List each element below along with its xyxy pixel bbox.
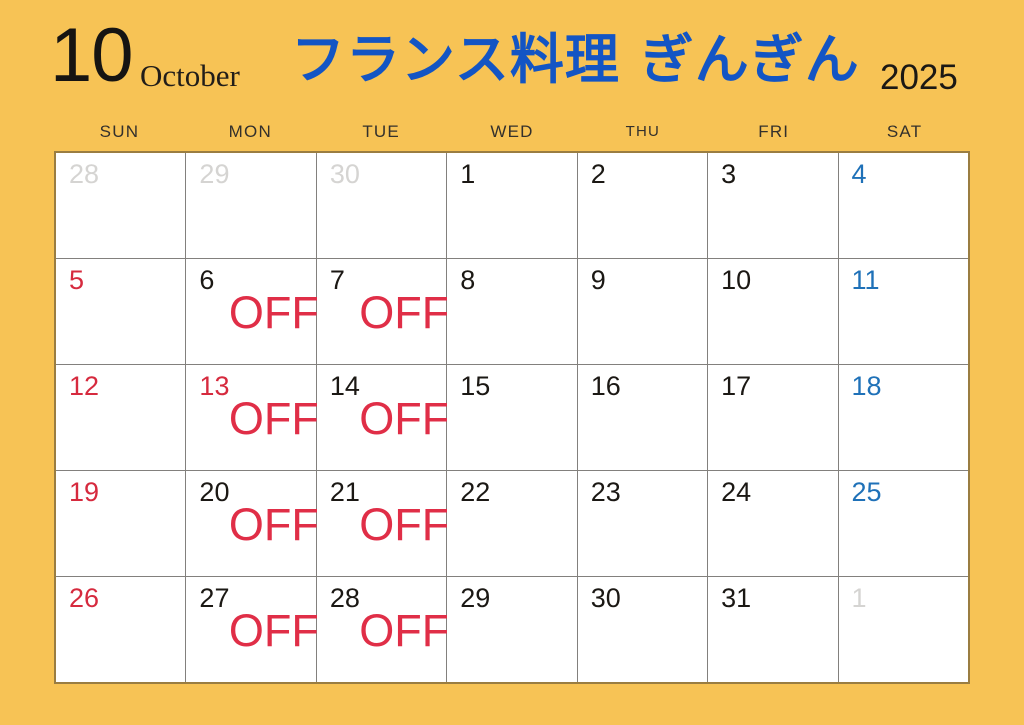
weekday-label-sat: SAT [839, 122, 970, 148]
calendar-day-cell[interactable]: 8 [447, 259, 577, 364]
off-marker: OFF [229, 502, 319, 547]
day-number: 7 [330, 265, 345, 296]
calendar-day-cell[interactable]: 29 [447, 577, 577, 682]
day-number: 30 [330, 159, 360, 190]
calendar-day-cell[interactable]: 25 [839, 471, 968, 576]
day-number: 31 [721, 583, 751, 614]
weekday-label-thu: THU [577, 122, 708, 148]
calendar-week-row: 1213OFF14OFF15161718 [56, 365, 968, 471]
calendar-day-cell[interactable]: 1 [447, 153, 577, 258]
off-marker: OFF [359, 608, 449, 653]
calendar-header: 10 October フランス料理 ぎんぎん 2025 [0, 0, 1024, 118]
day-number: 2 [591, 159, 606, 190]
month-number: 10 [50, 18, 133, 94]
calendar-day-cell[interactable]: 11 [839, 259, 968, 364]
day-number: 21 [330, 477, 360, 508]
calendar-day-cell[interactable]: 3 [708, 153, 838, 258]
calendar-day-cell[interactable]: 26 [56, 577, 186, 682]
day-number: 18 [852, 371, 882, 402]
day-number: 29 [199, 159, 229, 190]
day-number: 29 [460, 583, 490, 614]
month-name: October [140, 60, 240, 91]
calendar-day-cell[interactable]: 18 [839, 365, 968, 470]
day-number: 9 [591, 265, 606, 296]
weekday-label-mon: MON [185, 122, 316, 148]
calendar-day-cell[interactable]: 9 [578, 259, 708, 364]
weekday-label-tue: TUE [316, 122, 447, 148]
day-number: 22 [460, 477, 490, 508]
calendar-day-cell[interactable]: 30 [578, 577, 708, 682]
day-number: 8 [460, 265, 475, 296]
weekday-label-fri: FRI [708, 122, 839, 148]
day-number: 4 [852, 159, 867, 190]
calendar-week-row: 1920OFF21OFF22232425 [56, 471, 968, 577]
weekday-header-row: SUNMONTUEWEDTHUFRISAT [54, 122, 970, 148]
weekday-label-wed: WED [447, 122, 578, 148]
day-number: 19 [69, 477, 99, 508]
day-number: 1 [852, 583, 867, 614]
calendar-day-cell[interactable]: 1 [839, 577, 968, 682]
day-number: 27 [199, 583, 229, 614]
calendar-day-cell[interactable]: 31 [708, 577, 838, 682]
day-number: 14 [330, 371, 360, 402]
calendar-day-cell[interactable]: 12 [56, 365, 186, 470]
weekday-label-sun: SUN [54, 122, 185, 148]
day-number: 13 [199, 371, 229, 402]
day-number: 23 [591, 477, 621, 508]
day-number: 17 [721, 371, 751, 402]
calendar-day-cell[interactable]: 15 [447, 365, 577, 470]
off-marker: OFF [229, 396, 319, 441]
calendar-day-cell[interactable]: 24 [708, 471, 838, 576]
day-number: 12 [69, 371, 99, 402]
calendar-day-cell[interactable]: 29 [186, 153, 316, 258]
calendar-day-cell[interactable]: 21OFF [317, 471, 447, 576]
calendar-day-cell[interactable]: 23 [578, 471, 708, 576]
calendar-day-cell[interactable]: 30 [317, 153, 447, 258]
calendar-day-cell[interactable]: 2 [578, 153, 708, 258]
day-number: 11 [852, 265, 880, 296]
off-marker: OFF [359, 502, 449, 547]
day-number: 28 [330, 583, 360, 614]
day-number: 1 [460, 159, 475, 190]
day-number: 3 [721, 159, 736, 190]
day-number: 30 [591, 583, 621, 614]
day-number: 5 [69, 265, 84, 296]
day-number: 25 [852, 477, 882, 508]
calendar-day-cell[interactable]: 5 [56, 259, 186, 364]
calendar-day-cell[interactable]: 20OFF [186, 471, 316, 576]
off-marker: OFF [229, 608, 319, 653]
calendar-day-cell[interactable]: 13OFF [186, 365, 316, 470]
day-number: 16 [591, 371, 621, 402]
calendar-day-cell[interactable]: 14OFF [317, 365, 447, 470]
day-number: 10 [721, 265, 751, 296]
day-number: 26 [69, 583, 99, 614]
calendar-day-cell[interactable]: 28 [56, 153, 186, 258]
calendar-day-cell[interactable]: 22 [447, 471, 577, 576]
calendar-day-cell[interactable]: 10 [708, 259, 838, 364]
day-number: 6 [199, 265, 214, 296]
off-marker: OFF [359, 396, 449, 441]
calendar-day-cell[interactable]: 28OFF [317, 577, 447, 682]
off-marker: OFF [359, 290, 449, 335]
calendar-day-cell[interactable]: 19 [56, 471, 186, 576]
calendar-title: フランス料理 ぎんぎん [291, 33, 860, 87]
calendar-week-row: 56OFF7OFF891011 [56, 259, 968, 365]
day-number: 24 [721, 477, 751, 508]
calendar-day-cell[interactable]: 7OFF [317, 259, 447, 364]
calendar-day-cell[interactable]: 17 [708, 365, 838, 470]
calendar-week-row: 2627OFF28OFF2930311 [56, 577, 968, 682]
day-number: 20 [199, 477, 229, 508]
calendar-day-cell[interactable]: 6OFF [186, 259, 316, 364]
calendar-week-row: 2829301234 [56, 153, 968, 259]
day-number: 28 [69, 159, 99, 190]
calendar-grid: 282930123456OFF7OFF8910111213OFF14OFF151… [54, 151, 970, 684]
calendar-day-cell[interactable]: 27OFF [186, 577, 316, 682]
off-marker: OFF [229, 290, 319, 335]
calendar-day-cell[interactable]: 16 [578, 365, 708, 470]
day-number: 15 [460, 371, 490, 402]
year-label: 2025 [880, 60, 958, 95]
calendar-day-cell[interactable]: 4 [839, 153, 968, 258]
